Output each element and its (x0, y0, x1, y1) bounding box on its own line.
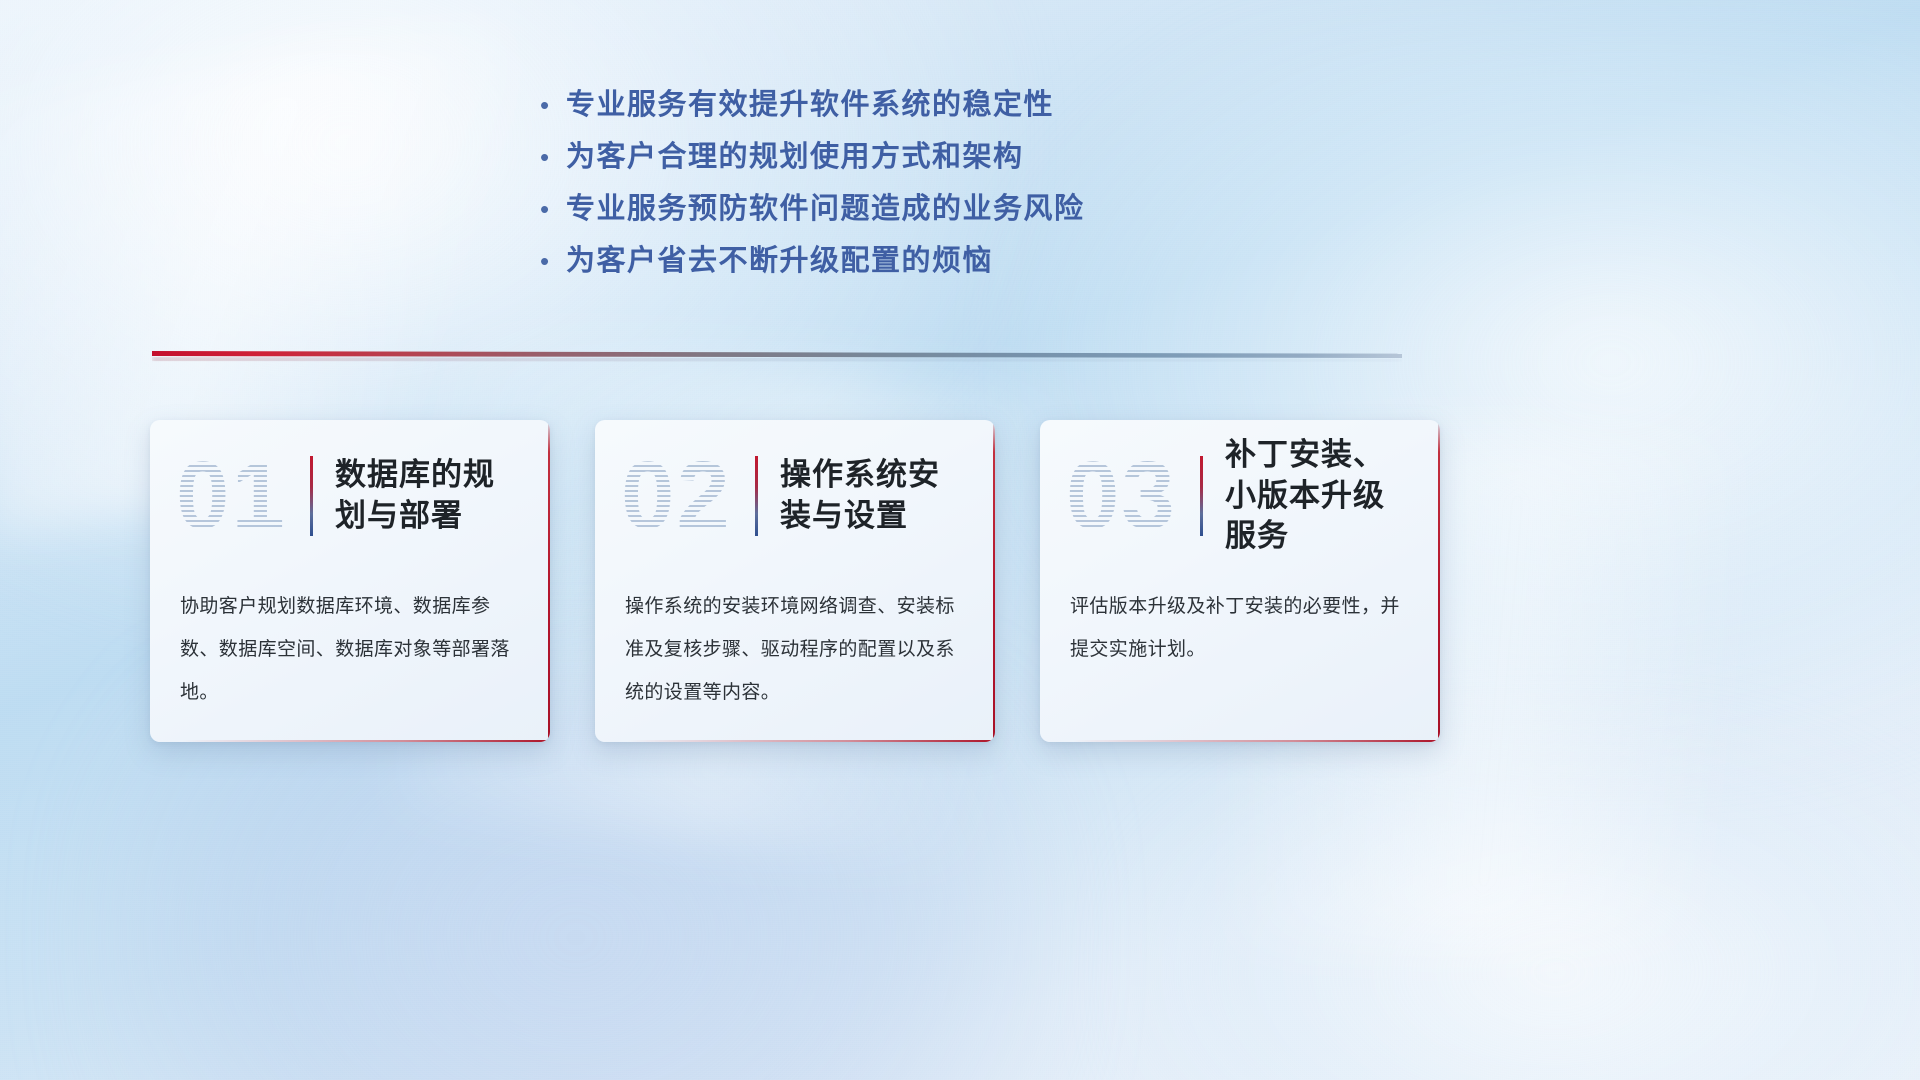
card-02-bottom-accent (627, 740, 995, 742)
card-03-bottom-accent (1072, 740, 1440, 742)
card-02-accent-bar (755, 456, 758, 536)
bullet-marker-icon: • (540, 196, 566, 222)
bullet-item-2-label: 为客户合理的规划使用方式和架构 (566, 140, 1024, 175)
card-03-ghost-number: 03 (1066, 440, 1200, 552)
divider-gradient-line (152, 351, 1402, 358)
bullet-item-1-label: 专业服务有效提升软件系统的稳定性 (566, 88, 1054, 123)
card-01-body: 协助客户规划数据库环境、数据库参数、数据库空间、数据库对象等部署落地。 (150, 572, 550, 714)
bullet-item-1: • 专业服务有效提升软件系统的稳定性 (540, 88, 1340, 140)
service-card-01[interactable]: 01 数据库的规划与部署 协助客户规划数据库环境、数据库参数、数据库空间、数据库… (150, 420, 550, 742)
service-card-list: 01 数据库的规划与部署 协助客户规划数据库环境、数据库参数、数据库空间、数据库… (150, 420, 1770, 742)
card-03-body: 评估版本升级及补丁安装的必要性，并提交实施计划。 (1040, 572, 1440, 672)
card-01-ghost-number: 01 (176, 440, 310, 552)
divider-shadow (152, 357, 1402, 362)
benefits-bullet-list: • 专业服务有效提升软件系统的稳定性 • 为客户合理的规划使用方式和架构 • 专… (540, 88, 1340, 296)
card-01-header: 01 数据库的规划与部署 (150, 420, 550, 572)
bullet-item-4: • 为客户省去不断升级配置的烦恼 (540, 244, 1340, 296)
card-02-ghost-number: 02 (621, 440, 755, 552)
bullet-item-3-label: 专业服务预防软件问题造成的业务风险 (566, 192, 1085, 227)
service-card-03[interactable]: 03 补丁安装、小版本升级服务 评估版本升级及补丁安装的必要性，并提交实施计划。 (1040, 420, 1440, 742)
bullet-marker-icon: • (540, 144, 566, 170)
bullet-item-2: • 为客户合理的规划使用方式和架构 (540, 140, 1340, 192)
slide-root: • 专业服务有效提升软件系统的稳定性 • 为客户合理的规划使用方式和架构 • 专… (0, 0, 1920, 1080)
card-01-title: 数据库的规划与部署 (335, 455, 526, 537)
card-01-bottom-accent (182, 740, 550, 742)
card-02-header: 02 操作系统安装与设置 (595, 420, 995, 572)
section-divider (152, 348, 1402, 364)
bullet-marker-icon: • (540, 92, 566, 118)
card-03-header: 03 补丁安装、小版本升级服务 (1040, 420, 1440, 572)
service-card-02[interactable]: 02 操作系统安装与设置 操作系统的安装环境网络调查、安装标准及复核步骤、驱动程… (595, 420, 995, 742)
card-01-accent-bar (310, 456, 313, 536)
card-02-title: 操作系统安装与设置 (780, 455, 971, 537)
bullet-marker-icon: • (540, 248, 566, 274)
card-03-accent-bar (1200, 456, 1203, 536)
bullet-item-4-label: 为客户省去不断升级配置的烦恼 (566, 244, 993, 279)
card-03-title: 补丁安装、小版本升级服务 (1225, 435, 1416, 558)
card-02-body: 操作系统的安装环境网络调查、安装标准及复核步骤、驱动程序的配置以及系统的设置等内… (595, 572, 995, 714)
bullet-item-3: • 专业服务预防软件问题造成的业务风险 (540, 192, 1340, 244)
